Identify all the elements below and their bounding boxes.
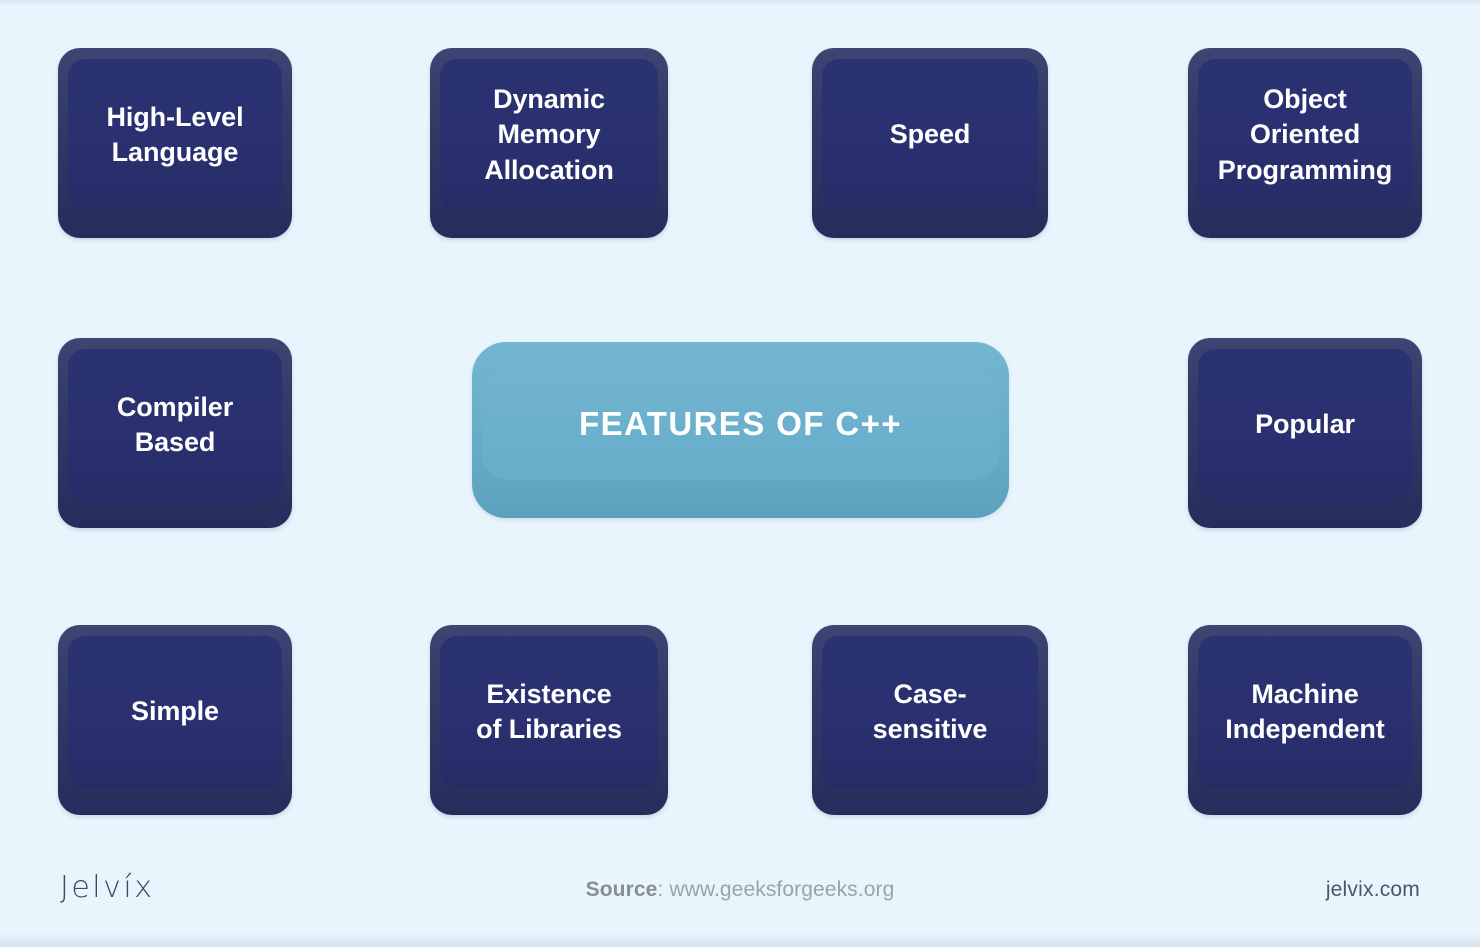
card-label: Speed (890, 117, 971, 152)
card-face: Object Oriented Programming (1198, 59, 1412, 211)
source-url: www.geeksforgeeks.org (669, 878, 894, 901)
card-label: Popular (1255, 407, 1355, 442)
card-label: Dynamic Memory Allocation (484, 82, 614, 187)
jelvix-website: jelvix.com (1326, 878, 1420, 902)
center-card-face: FEATURES OF C++ (482, 368, 999, 480)
card-base: Case- sensitive (812, 625, 1048, 815)
card-base: Popular (1188, 338, 1422, 528)
card-simple[interactable]: Simple (58, 625, 292, 815)
features-grid: High-Level LanguageDynamic Memory Alloca… (0, 0, 1480, 860)
card-face: Speed (822, 59, 1038, 211)
card-base: Compiler Based (58, 338, 292, 528)
card-high-level-language[interactable]: High-Level Language (58, 48, 292, 238)
source-label: Source (586, 878, 658, 901)
card-label: Case- sensitive (873, 677, 988, 747)
card-base: Speed (812, 48, 1048, 238)
center-title-card: FEATURES OF C++ (472, 342, 1009, 518)
card-label: Simple (131, 694, 219, 729)
card-face: Compiler Based (68, 349, 282, 501)
diagram-title: FEATURES OF C++ (579, 405, 902, 443)
card-label: Compiler Based (117, 390, 233, 460)
card-base: High-Level Language (58, 48, 292, 238)
card-face: Popular (1198, 349, 1412, 501)
card-face: Simple (68, 636, 282, 788)
source-separator: : (657, 878, 669, 901)
card-base: Object Oriented Programming (1188, 48, 1422, 238)
card-case-sensitive[interactable]: Case- sensitive (812, 625, 1048, 815)
card-face: Dynamic Memory Allocation (440, 59, 658, 211)
card-label: Existence of Libraries (476, 677, 622, 747)
card-face: Existence of Libraries (440, 636, 658, 788)
card-object-oriented-programming[interactable]: Object Oriented Programming (1188, 48, 1422, 238)
card-base: Dynamic Memory Allocation (430, 48, 668, 238)
source-attribution: Source: www.geeksforgeeks.org (0, 878, 1480, 902)
card-popular[interactable]: Popular (1188, 338, 1422, 528)
card-base: Machine Independent (1188, 625, 1422, 815)
infographic-canvas: High-Level LanguageDynamic Memory Alloca… (0, 0, 1480, 947)
card-compiler-based[interactable]: Compiler Based (58, 338, 292, 528)
card-machine-independent[interactable]: Machine Independent (1188, 625, 1422, 815)
card-existence-of-libraries[interactable]: Existence of Libraries (430, 625, 668, 815)
footer: Jelvíx Source: www.geeksforgeeks.org jel… (0, 858, 1480, 947)
card-face: Machine Independent (1198, 636, 1412, 788)
card-label: Machine Independent (1225, 677, 1384, 747)
card-base: Simple (58, 625, 292, 815)
card-speed[interactable]: Speed (812, 48, 1048, 238)
card-face: Case- sensitive (822, 636, 1038, 788)
card-base: Existence of Libraries (430, 625, 668, 815)
card-label: High-Level Language (106, 100, 243, 170)
card-label: Object Oriented Programming (1218, 82, 1392, 187)
card-face: High-Level Language (68, 59, 282, 211)
card-dynamic-memory-allocation[interactable]: Dynamic Memory Allocation (430, 48, 668, 238)
